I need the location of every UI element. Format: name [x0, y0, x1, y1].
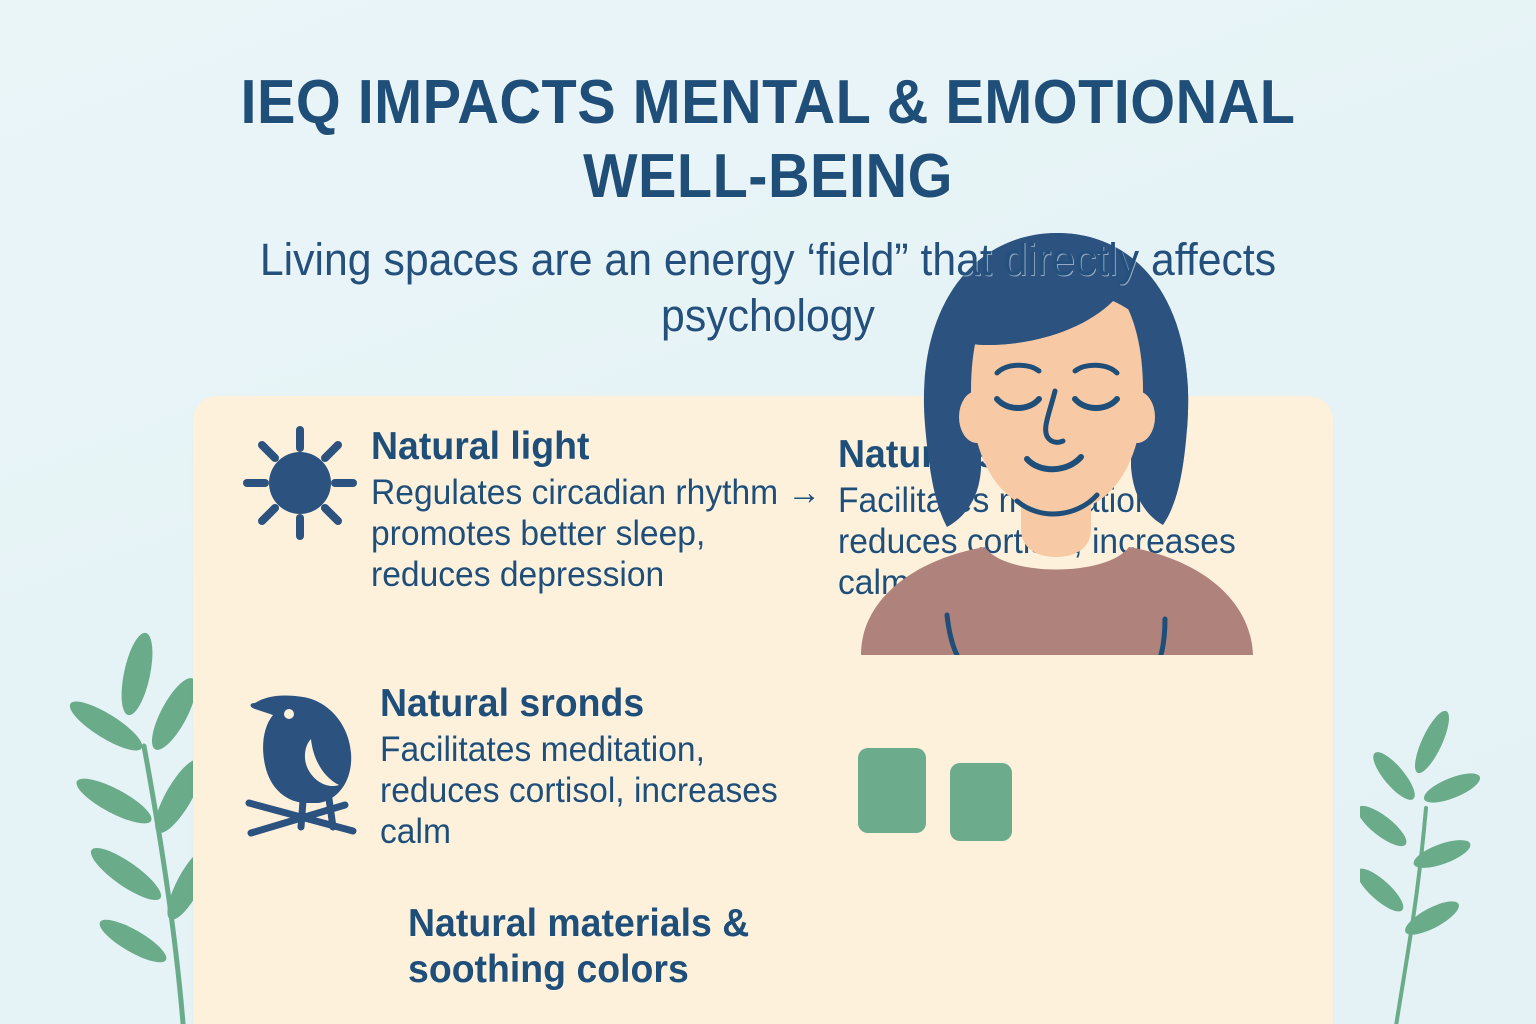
- item-desc-natural-light: Regulates circadian rhythm → promotes be…: [371, 472, 823, 595]
- item-title-natural-sronds: Natural sronds: [380, 681, 822, 727]
- color-swatch-small: [950, 763, 1012, 841]
- infographic-canvas: IEQ Impacts Mental & Emotional Well-Bein…: [0, 0, 1536, 1024]
- card-item-text: Natural materials & soothing colors: [408, 901, 888, 993]
- page-title-line1: IEQ Impacts Mental & Emotional: [240, 68, 1295, 137]
- card-item-natural-materials: Natural materials & soothing colors: [408, 901, 888, 993]
- item-title-natural-materials: Natural materials & soothing colors: [408, 901, 869, 993]
- item-title-natural-light: Natural light: [371, 424, 823, 470]
- card-item-natural-light: Natural light Regulates circadian rhythm…: [241, 424, 841, 595]
- sun-icon-wrap: [241, 424, 359, 547]
- page-subtitle: Living spaces are an energy ‘field” that…: [208, 232, 1329, 344]
- color-swatch-large: [858, 748, 926, 833]
- page-title: IEQ Impacts Mental & Emotional Well-Bein…: [54, 66, 1482, 214]
- page-title-line2: Well-Being: [583, 142, 953, 211]
- item-desc-natural-sronds: Facilitates meditation, reduces cortisol…: [380, 729, 822, 852]
- heading-block: IEQ Impacts Mental & Emotional Well-Bein…: [0, 66, 1536, 344]
- bird-icon: [241, 681, 365, 841]
- card-item-text: Natural light Regulates circadian rhythm…: [371, 424, 841, 595]
- leaf-sprig-right-icon: [1360, 700, 1520, 1024]
- bird-icon-wrap: [241, 681, 365, 846]
- card-item-text: Natural sronds Facilitates meditation, r…: [380, 681, 841, 852]
- sun-icon: [241, 424, 359, 542]
- card-item-natural-sronds: Natural sronds Facilitates meditation, r…: [241, 681, 841, 852]
